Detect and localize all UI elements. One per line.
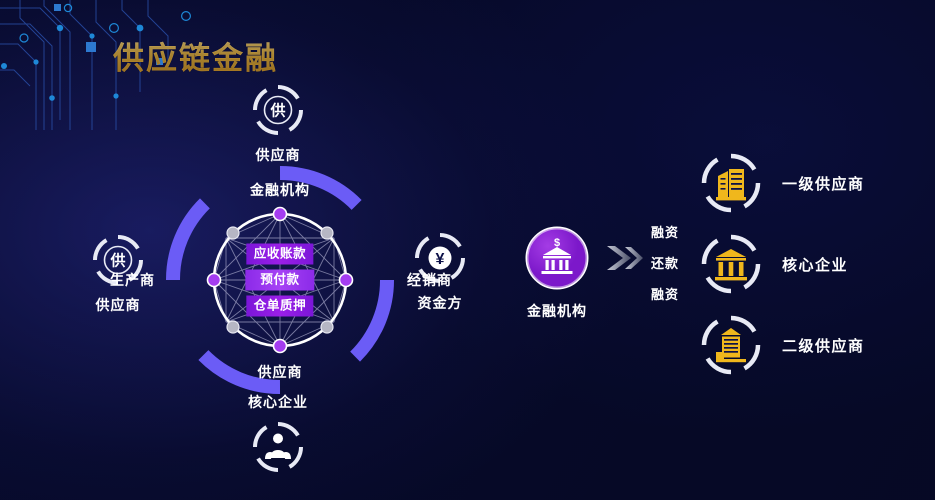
bank-columns-icon (700, 233, 762, 295)
node-supplier-top[interactable]: 供 供应商 (238, 84, 318, 165)
flow-label-financing-2: 融资 (651, 284, 679, 303)
node-label: 金融机构 (514, 301, 600, 321)
svg-text:供: 供 (109, 252, 125, 270)
chip-warehouse-pledge[interactable]: 仓单质押 (247, 296, 313, 317)
supplier-glyph-icon: 供 (252, 84, 304, 136)
svg-text:¥: ¥ (436, 251, 445, 268)
list-item-tier1-supplier[interactable]: 一级供应商 (700, 152, 865, 214)
flow-label-group: 融资 还款 融资 (651, 222, 679, 303)
svg-text:供: 供 (269, 102, 285, 120)
bank-dollar-icon: $ (524, 225, 590, 291)
list-item-tier2-supplier[interactable]: 二级供应商 (700, 314, 865, 376)
supply-chain-ring-diagram: 应收账款 预付款 仓单质押 金融机构 生产商 经销商 供应商 (160, 160, 400, 400)
list-item-core-enterprise[interactable]: 核心企业 (700, 233, 865, 295)
node-core-enterprise-bottom[interactable]: 核心企业 (238, 392, 318, 473)
flow-label-financing-1: 融资 (651, 222, 679, 241)
tower-building-icon (700, 314, 762, 376)
right-entity-list: 一级供应商 (700, 152, 865, 376)
list-item-label: 核心企业 (782, 254, 848, 275)
flow-label-repayment: 还款 (651, 253, 679, 272)
node-label: 资金方 (400, 293, 480, 313)
list-item-label: 一级供应商 (782, 173, 865, 194)
ring-label-left: 生产商 (110, 270, 155, 290)
chip-receivables[interactable]: 应收账款 (247, 244, 313, 265)
node-financial-institution[interactable]: $ 金融机构 (514, 225, 600, 321)
slide-canvas: 供应链金融 供 供应商 (0, 0, 935, 500)
ring-label-right: 经销商 (407, 270, 452, 290)
ring-label-top: 金融机构 (250, 180, 310, 200)
list-item-label: 二级供应商 (782, 335, 865, 356)
chip-prepayment[interactable]: 预付款 (245, 270, 314, 291)
office-building-icon (700, 152, 762, 214)
page-title: 供应链金融 (113, 33, 278, 78)
node-label: 供应商 (78, 295, 158, 315)
ring-label-bottom: 供应商 (258, 362, 303, 382)
chevron-right-arrow-icon (605, 243, 645, 278)
ring-chip-stack: 应收账款 预付款 仓单质押 (245, 244, 314, 317)
people-icon (252, 421, 304, 473)
